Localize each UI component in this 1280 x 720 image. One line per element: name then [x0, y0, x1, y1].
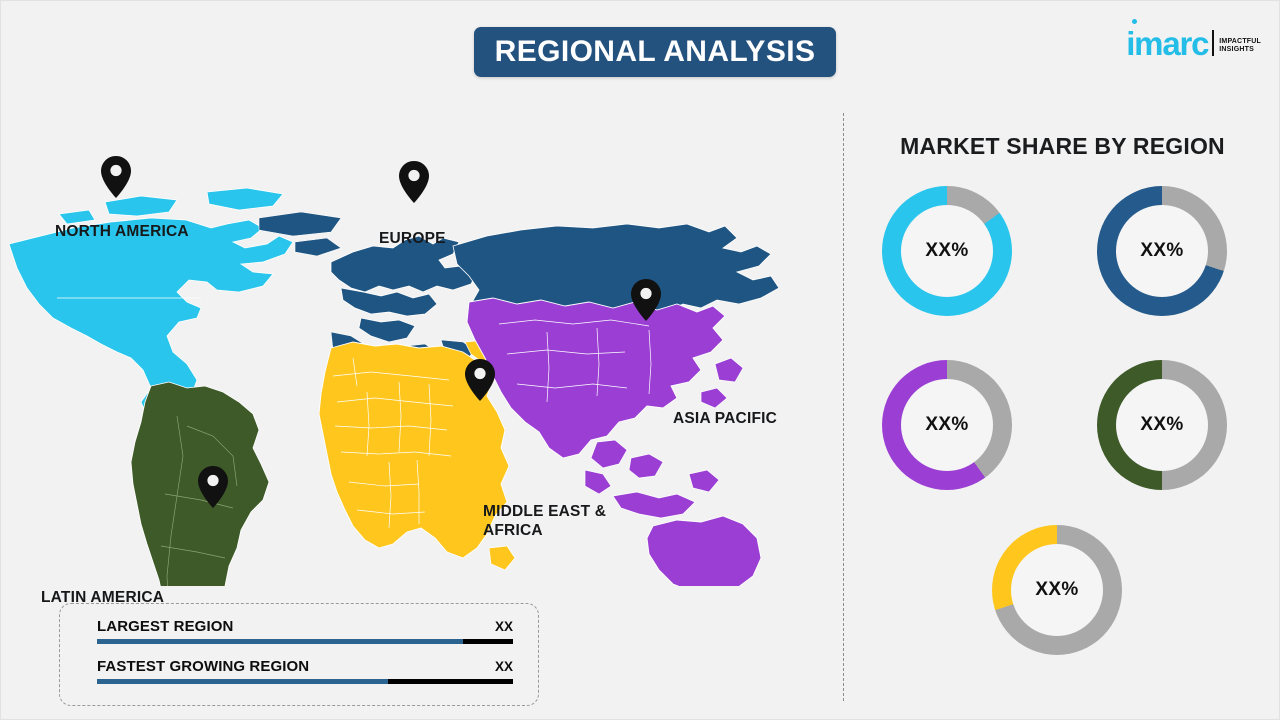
donut-chart-europe: XX%: [1097, 186, 1227, 316]
map-pin-europe[interactable]: [399, 161, 429, 203]
donut-center: XX%: [901, 379, 993, 471]
donut-value: XX%: [1140, 240, 1183, 262]
stat-row-largest-region: LARGEST REGION XX: [97, 618, 513, 644]
region-label-asia-pacific: ASIA PACIFIC: [673, 409, 777, 428]
logo-tagline-line1: IMPACTFUL: [1219, 38, 1261, 45]
donut-center: XX%: [1116, 205, 1208, 297]
region-label-europe: EUROPE: [379, 229, 446, 248]
donut-center: XX%: [1116, 379, 1208, 471]
map-region-asia-pacific: [467, 298, 797, 586]
market-share-title: MARKET SHARE BY REGION: [844, 133, 1280, 160]
world-map-container: NORTH AMERICA EUROPE ASIA PACIFIC MIDDLE…: [1, 96, 841, 586]
page-title: REGIONAL ANALYSIS: [495, 35, 816, 69]
donut-chart-north-america: XX%: [882, 186, 1012, 316]
stat-label: FASTEST GROWING REGION: [97, 658, 309, 675]
region-label-north-america: NORTH AMERICA: [55, 222, 189, 241]
region-stats-box: LARGEST REGION XX FASTEST GROWING REGION…: [59, 603, 539, 706]
imarc-logo: imarc IMPACTFUL INSIGHTS: [1126, 19, 1261, 59]
logo-tagline: IMPACTFUL INSIGHTS: [1219, 38, 1261, 60]
stat-bar-fill: [97, 639, 463, 644]
donut-value: XX%: [925, 414, 968, 436]
page-title-banner: REGIONAL ANALYSIS: [474, 27, 836, 77]
stat-value: XX: [495, 659, 513, 674]
logo-wordmark: imarc: [1126, 28, 1208, 59]
stat-row-fastest-growing-region: FASTEST GROWING REGION XX: [97, 658, 513, 684]
donut-center: XX%: [901, 205, 993, 297]
world-map-svg: [1, 96, 841, 586]
logo-separator: [1212, 30, 1214, 56]
stat-bar-fill: [97, 679, 388, 684]
stat-label: LARGEST REGION: [97, 618, 233, 635]
infographic-page: REGIONAL ANALYSIS imarc IMPACTFUL INSIGH…: [0, 0, 1280, 720]
donut-value: XX%: [1140, 414, 1183, 436]
map-pin-north-america[interactable]: [101, 156, 131, 198]
donut-center: XX%: [1011, 544, 1103, 636]
donut-value: XX%: [1035, 579, 1078, 601]
stat-bar-track: [97, 679, 513, 684]
panel-divider: [843, 113, 844, 701]
donut-chart-latin-america: XX%: [1097, 360, 1227, 490]
donut-value: XX%: [925, 240, 968, 262]
logo-dot-icon: [1132, 19, 1137, 24]
region-label-middle-east-africa: MIDDLE EAST & AFRICA: [483, 502, 606, 541]
stat-value: XX: [495, 619, 513, 634]
logo-tagline-line2: INSIGHTS: [1219, 46, 1254, 53]
stat-bar-track: [97, 639, 513, 644]
donut-chart-middle-east-africa: XX%: [992, 525, 1122, 655]
donut-chart-asia-pacific: XX%: [882, 360, 1012, 490]
